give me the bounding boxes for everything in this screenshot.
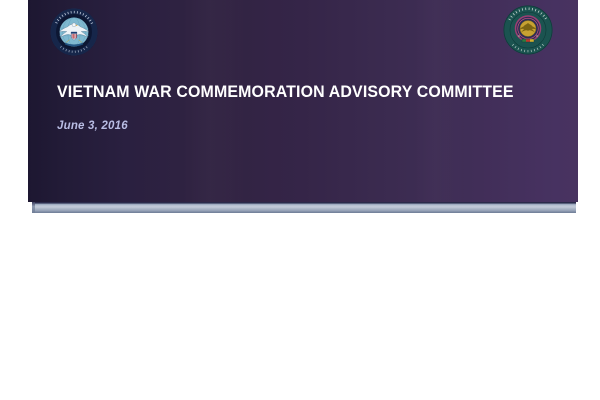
vietnam-war-commemoration-seal (503, 5, 553, 55)
page-title: VIETNAM WAR COMMEMORATION ADVISORY COMMI… (57, 83, 514, 102)
accent-bar (32, 202, 576, 213)
slide-date: June 3, 2016 (57, 120, 128, 132)
dod-seal (50, 8, 98, 56)
